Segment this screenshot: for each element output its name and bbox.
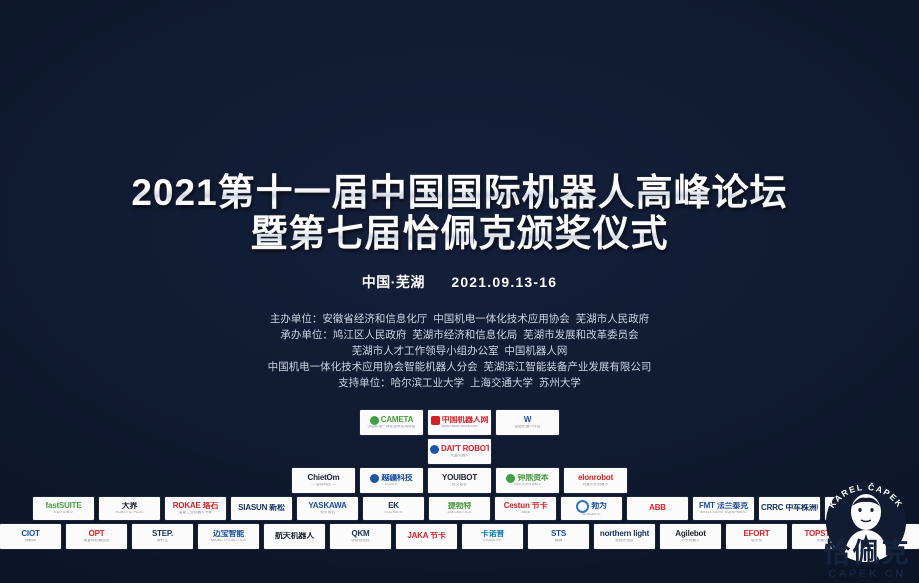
- sponsor-logo-subtitle: 奥普特机器视觉: [68, 539, 125, 543]
- sponsor-logo[interactable]: 勃为BORUNTE: [561, 497, 622, 520]
- sponsor-logo-name: EK: [365, 502, 422, 510]
- organiser-value: 安徽省经济和信息化厅 中国机电一体化技术应用协会 芜湖市人民政府: [322, 313, 649, 325]
- sponsor-logo[interactable]: 越疆科技DOBOT: [360, 468, 423, 493]
- sponsor-logo-name: fastSUITE: [35, 502, 92, 510]
- sponsor-logo-name: 卡诺普: [464, 530, 521, 538]
- sponsor-logo-name: 越疆科技: [381, 474, 412, 482]
- sponsor-logo-name: elonrobot: [566, 474, 625, 482]
- sponsor-logo-name: ChietOm: [294, 474, 353, 482]
- sponsor-logo-name: CAMETA: [381, 416, 413, 424]
- sponsor-logo-mark-icon: [370, 416, 379, 425]
- sponsor-logo-subtitle: 中国机电一体化技术应用协会: [362, 425, 421, 429]
- sponsor-logo-subtitle: ROBOTIC PLUS: [101, 511, 158, 515]
- sponsor-logo-subtitle: 赛腾: [530, 539, 587, 543]
- sponsor-logo[interactable]: DAI'T ROBOT大翼机器人: [428, 439, 491, 464]
- sponsor-logo-subtitle: 李群自动化: [332, 539, 389, 543]
- sponsor-logo[interactable]: CRRC 中车株洲电力机车: [759, 497, 820, 520]
- calligraphy-left: 遇见恰佩克: [130, 86, 430, 139]
- sponsor-logo[interactable]: elonrobot同壹中长机器人: [564, 468, 627, 493]
- event-city: 中国·芜湖: [362, 274, 425, 290]
- sponsor-logo-name: 勃为: [591, 502, 607, 510]
- sponsor-logo[interactable]: Agilebot节卡机器人: [660, 524, 721, 549]
- sponsor-logo-name: FMT 法兰泰克: [695, 502, 752, 510]
- organiser-row: 中国机电一体化技术应用协会智能机器人分会 芜湖滨江智能装备产业发展有限公司: [0, 360, 919, 376]
- sponsor-logo-subtitle: ECOVACS: [365, 511, 422, 515]
- capek-watermark: 恰佩克 CAPEK CN: [812, 540, 919, 580]
- sponsor-logo-name: ROKAE 珞石: [167, 502, 224, 510]
- sponsor-logo-row: CIOT物联网OPT奥普特机器视觉STEP.新时达迈宝智能MAIBOT ROBO…: [0, 524, 919, 549]
- sponsor-logo[interactable]: 卡诺普CROBOTP: [462, 524, 523, 549]
- sponsor-logo-subtitle: 物联网: [2, 539, 59, 543]
- organiser-value: 哈尔滨工业大学 上海交通大学 苏州大学: [391, 377, 581, 389]
- sponsor-logo[interactable]: JAKA 节卡: [396, 524, 457, 549]
- sponsor-logo[interactable]: STS赛腾: [528, 524, 589, 549]
- sponsor-logo-subtitle: 优艾智合: [430, 483, 489, 487]
- sponsor-logo-name: OPT: [68, 530, 125, 538]
- organiser-value: 芜湖市人才工作领导小组办公室 中国机器人网: [352, 345, 568, 357]
- sponsor-logo[interactable]: YASKAWA安川电机: [297, 497, 358, 520]
- sponsor-logo-mark-icon: [431, 416, 440, 425]
- sponsor-logo[interactable]: FMT 法兰泰克INTELLIGENT EQUIPMENT: [693, 497, 754, 520]
- sponsor-logo-subtitle: 埃夫特: [728, 539, 785, 543]
- sponsor-logo-name: W: [498, 416, 557, 424]
- sponsor-logo-subtitle: CROBOTP: [464, 539, 521, 543]
- sponsor-logo-subtitle: — 智同科技 —: [294, 483, 353, 487]
- sponsor-logo-subtitle: 智能工业机器人专家: [167, 511, 224, 515]
- sponsor-logo[interactable]: EKECOVACS: [363, 497, 424, 520]
- sponsor-logo[interactable]: CAMETA中国机电一体化技术应用协会: [360, 410, 423, 435]
- sponsor-logo-name: QKM: [332, 530, 389, 538]
- sponsor-logo-subtitle: www.robot-china.com: [430, 425, 489, 429]
- sponsor-logo-mark-icon: [506, 474, 515, 483]
- sponsor-logo[interactable]: 钟鼎资本EASTERN BELL: [496, 468, 559, 493]
- sponsor-logo-name: 捷勃特: [431, 502, 488, 510]
- sponsor-logo-row: CAMETA中国机电一体化技术应用协会中国机器人网www.robot-china…: [0, 410, 919, 435]
- sponsor-logo-name: Cestun 节卡: [497, 502, 554, 510]
- sponsor-logo-row: DAI'T ROBOT大翼机器人: [0, 439, 919, 464]
- sponsor-logo[interactable]: ROKAE 珞石智能工业机器人专家: [165, 497, 226, 520]
- organiser-value: 鸠江区人民政府 芜湖市经济和信息化局 芜湖市发展和改革委员会: [333, 329, 639, 341]
- sponsor-logo-wall: CAMETA中国机电一体化技术应用协会中国机器人网www.robot-china…: [0, 410, 919, 553]
- page-title: 2021第十一届中国国际机器人高峰论坛 暨第七届恰佩克颁奖仪式: [0, 172, 919, 255]
- sponsor-logo-subtitle: 新时达: [134, 539, 191, 543]
- sponsor-logo-name: CIOT: [2, 530, 59, 538]
- organiser-row: 芜湖市人才工作领导小组办公室 中国机器人网: [0, 344, 919, 360]
- sponsor-logo[interactable]: ChietOm— 智同科技 —: [292, 468, 355, 493]
- calligraphy-right: 预见新未来: [489, 86, 789, 139]
- sponsor-logo-row: fastSUITEEDITION 2大界ROBOTIC PLUSROKAE 珞石…: [0, 497, 919, 520]
- event-meta: 中国·芜湖 2021.09.13-16: [0, 272, 919, 292]
- sponsor-logo[interactable]: YOUIBOT优艾智合: [428, 468, 491, 493]
- poster-canvas: 遇见恰佩克 预见新未来 2021第十一届中国国际机器人高峰论坛 暨第七届恰佩克颁…: [0, 0, 919, 583]
- sponsor-logo-name: 迈宝智能: [200, 530, 257, 538]
- sponsor-logo-subtitle: EASTERN BELL: [498, 483, 557, 487]
- sponsor-logo[interactable]: W智能机器人分会: [496, 410, 559, 435]
- title-line-1: 2021第十一届中国国际机器人高峰论坛: [0, 172, 919, 213]
- sponsor-logo-row: ChietOm— 智同科技 —越疆科技DOBOTYOUIBOT优艾智合钟鼎资本E…: [0, 468, 919, 493]
- watermark-en: CAPEK CN: [812, 568, 919, 580]
- sponsor-logo-subtitle: BORUNTE: [563, 513, 620, 517]
- sponsor-logo-subtitle: EDITION 2: [35, 511, 92, 515]
- sponsor-logo-mark-icon: [430, 445, 439, 454]
- sponsor-logo-name: northern light: [596, 530, 653, 538]
- sponsor-logo-subtitle: MAIBOT ROBOTICS: [200, 539, 257, 543]
- sponsor-logo[interactable]: SIASUN 新松: [231, 497, 292, 520]
- sponsor-logo[interactable]: CIOT物联网: [0, 524, 61, 549]
- organiser-row: 支持单位：哈尔滨工业大学 上海交通大学 苏州大学: [0, 376, 919, 392]
- sponsor-logo-subtitle: JACOBOTICS: [431, 511, 488, 515]
- sponsor-logo[interactable]: 捷勃特JACOBOTICS: [429, 497, 490, 520]
- organiser-label: 支持单位：: [338, 377, 391, 389]
- event-date: 2021.09.13-16: [451, 274, 557, 290]
- sponsor-logo-subtitle: 北极光创投: [596, 539, 653, 543]
- sponsor-logo[interactable]: STEP.新时达: [132, 524, 193, 549]
- sponsor-logo-name: STS: [530, 530, 587, 538]
- sponsor-logo[interactable]: Cestun 节卡JAKA: [495, 497, 556, 520]
- sponsor-logo[interactable]: 大界ROBOTIC PLUS: [99, 497, 160, 520]
- sponsor-logo[interactable]: ABB: [627, 497, 688, 520]
- sponsor-logo-name: CRRC 中车株洲电力机车: [761, 504, 818, 512]
- sponsor-logo-name: DAI'T ROBOT: [441, 445, 489, 453]
- sponsor-logo-name: YASKAWA: [299, 502, 356, 510]
- sponsor-logo-subtitle: JAKA: [497, 511, 554, 515]
- sponsor-logo-subtitle: 同壹中长机器人: [566, 483, 625, 487]
- organiser-label: 承办单位：: [280, 329, 333, 341]
- sponsor-logo[interactable]: 中国机器人网www.robot-china.com: [428, 410, 491, 435]
- sponsor-logo-name: 航天机器人: [266, 532, 323, 540]
- sponsor-logo-subtitle: DOBOT: [362, 483, 421, 487]
- organiser-value: 中国机电一体化技术应用协会智能机器人分会 芜湖滨江智能装备产业发展有限公司: [268, 361, 652, 373]
- sponsor-logo-name: Agilebot: [662, 530, 719, 538]
- sponsor-logo[interactable]: QKM李群自动化: [330, 524, 391, 549]
- organiser-label: 主办单位：: [270, 313, 323, 325]
- title-line-2: 暨第七届恰佩克颁奖仪式: [0, 213, 919, 254]
- sponsor-logo-mark-icon: [576, 500, 589, 513]
- sponsor-logo-name: 钟鼎资本: [517, 474, 548, 482]
- organiser-list: 主办单位：安徽省经济和信息化厅 中国机电一体化技术应用协会 芜湖市人民政府 承办…: [0, 312, 919, 392]
- sponsor-logo-subtitle: 节卡机器人: [662, 539, 719, 543]
- sponsor-logo-name: 中国机器人网: [442, 416, 489, 424]
- sponsor-logo-name: EFORT: [728, 530, 785, 538]
- sponsor-logo-name: ABB: [629, 504, 686, 512]
- sponsor-logo[interactable]: 航天机器人: [264, 524, 325, 549]
- organiser-row: 承办单位：鸠江区人民政府 芜湖市经济和信息化局 芜湖市发展和改革委员会: [0, 328, 919, 344]
- calligraphy-spacer: [434, 86, 485, 139]
- sponsor-logo-name: JAKA 节卡: [398, 532, 455, 540]
- sponsor-logo-name: SIASUN 新松: [233, 504, 290, 512]
- sponsor-logo-subtitle: INTELLIGENT EQUIPMENT: [695, 511, 752, 515]
- sponsor-logo[interactable]: EFORT埃夫特: [726, 524, 787, 549]
- sponsor-logo-subtitle: 智能机器人分会: [498, 425, 557, 429]
- organiser-row: 主办单位：安徽省经济和信息化厅 中国机电一体化技术应用协会 芜湖市人民政府: [0, 312, 919, 328]
- watermark-cn: 恰佩克: [812, 540, 919, 567]
- sponsor-logo-subtitle: 大翼机器人: [430, 454, 489, 458]
- sponsor-logo-subtitle: 安川电机: [299, 511, 356, 515]
- sponsor-logo-name: YOUIBOT: [430, 474, 489, 482]
- sponsor-logo-name: 大界: [101, 502, 158, 510]
- sponsor-logo[interactable]: northern light北极光创投: [594, 524, 655, 549]
- calligraphy-headline: 遇见恰佩克 预见新未来: [0, 86, 919, 139]
- sponsor-logo-mark-icon: [370, 474, 379, 483]
- sponsor-logo-name: STEP.: [134, 530, 191, 538]
- sponsor-logo[interactable]: 迈宝智能MAIBOT ROBOTICS: [198, 524, 259, 549]
- sponsor-logo[interactable]: fastSUITEEDITION 2: [33, 497, 94, 520]
- sponsor-logo[interactable]: OPT奥普特机器视觉: [66, 524, 127, 549]
